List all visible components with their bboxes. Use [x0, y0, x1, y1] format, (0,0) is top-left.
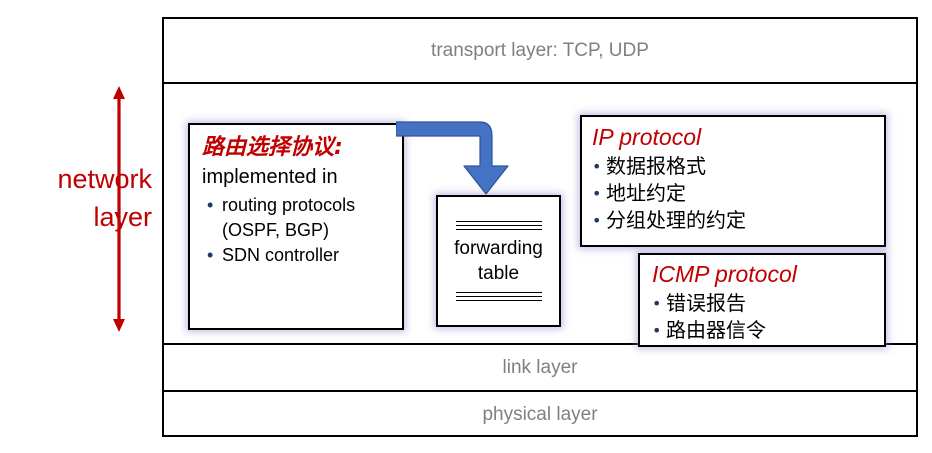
routing-protocols-box: 路由选择协议: implemented in • routing protoco…	[188, 123, 404, 330]
ip-protocol-bullet-item: • 数据报格式	[592, 153, 884, 180]
routing-bullet-continuation-text: (OSPF, BGP)	[222, 220, 329, 240]
elbow-arrow-right-down-icon	[396, 116, 516, 198]
link-layer-label: link layer	[503, 357, 578, 379]
network-layer-label: network layer	[6, 160, 152, 236]
routing-protocols-title: 路由选择协议:	[202, 133, 392, 163]
bullet-dot-icon: •	[652, 290, 661, 317]
forwarding-table-label-line2: table	[438, 261, 559, 286]
transport-layer-label: transport layer: TCP, UDP	[431, 40, 649, 62]
document-lines-icon-bottom	[456, 292, 542, 301]
network-layer-row: 路由选择协议: implemented in • routing protoco…	[164, 84, 916, 345]
protocol-layer-stack: transport layer: TCP, UDP 路由选择协议: implem…	[162, 17, 918, 437]
bullet-dot-icon: •	[207, 193, 213, 218]
routing-bullet-item: • routing protocols	[202, 193, 392, 218]
ip-protocol-title: IP protocol	[592, 122, 884, 153]
ip-protocol-bullet-list: • 数据报格式 • 地址约定 • 分组处理的约定	[592, 153, 884, 234]
routing-bullet-item: • SDN controller	[202, 243, 392, 268]
ip-protocol-bullet-item: • 分组处理的约定	[592, 207, 884, 234]
bullet-dot-icon: •	[207, 243, 213, 268]
network-layer-label-line1: network	[6, 160, 152, 198]
ip-protocol-bullet-text: 数据报格式	[606, 154, 706, 178]
icmp-protocol-box: ICMP protocol • 错误报告 • 路由器信令	[638, 253, 886, 347]
icmp-protocol-bullet-item: • 路由器信令	[652, 317, 884, 344]
physical-layer-row: physical layer	[164, 392, 916, 437]
icmp-protocol-bullet-text: 路由器信令	[666, 318, 766, 342]
forwarding-table-box: forwarding table	[436, 195, 561, 327]
ip-protocol-bullet-text: 分组处理的约定	[606, 208, 746, 232]
routing-protocols-bullet-list: • routing protocols (OSPF, BGP) • SDN co…	[202, 193, 392, 268]
link-layer-row: link layer	[164, 345, 916, 392]
transport-layer-row: transport layer: TCP, UDP	[164, 19, 916, 84]
routing-bullet-text: SDN controller	[222, 245, 339, 265]
ip-protocol-bullet-item: • 地址约定	[592, 180, 884, 207]
icmp-protocol-title: ICMP protocol	[652, 259, 884, 290]
routing-bullet-text: routing protocols	[222, 195, 355, 215]
network-layer-label-line2: layer	[6, 198, 152, 236]
routing-bullet-continuation: (OSPF, BGP)	[202, 218, 392, 243]
bullet-dot-icon: •	[592, 153, 601, 180]
forwarding-table-label: forwarding table	[438, 236, 559, 286]
icmp-protocol-bullet-text: 错误报告	[666, 291, 746, 315]
forwarding-table-label-line1: forwarding	[438, 236, 559, 261]
icmp-protocol-bullet-item: • 错误报告	[652, 290, 884, 317]
document-lines-icon-top	[456, 221, 542, 230]
bullet-dot-icon: •	[592, 180, 601, 207]
bullet-dot-icon: •	[592, 207, 601, 234]
icmp-protocol-bullet-list: • 错误报告 • 路由器信令	[652, 290, 884, 344]
physical-layer-label: physical layer	[482, 404, 597, 426]
routing-protocols-subtitle: implemented in	[202, 164, 392, 191]
ip-protocol-bullet-text: 地址约定	[606, 181, 686, 205]
bullet-dot-icon: •	[652, 317, 661, 344]
ip-protocol-box: IP protocol • 数据报格式 • 地址约定 • 分组处理的约定	[580, 115, 886, 247]
